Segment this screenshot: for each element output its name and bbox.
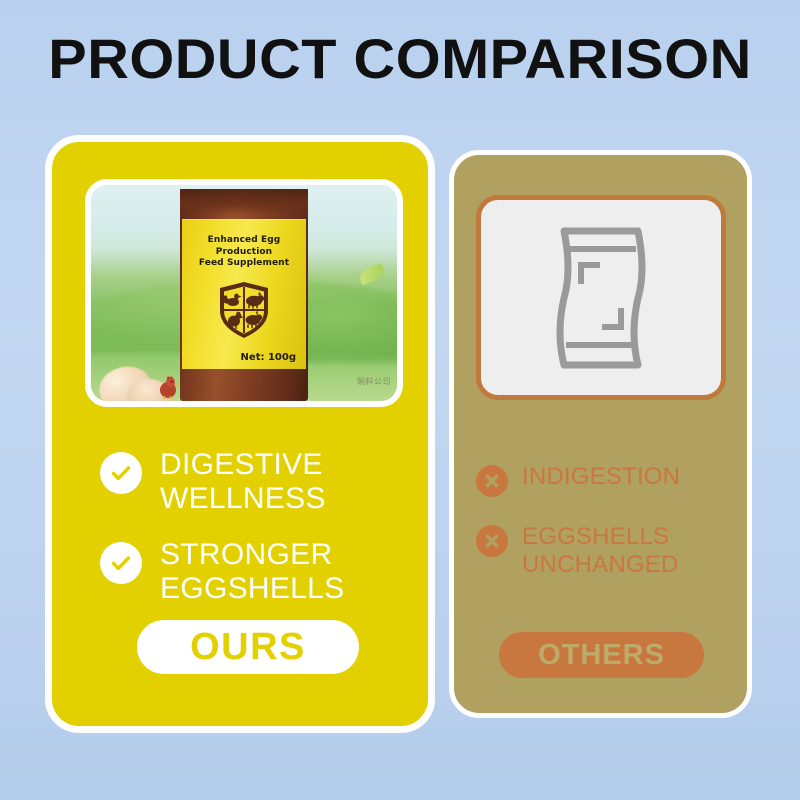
drawback-item: INDIGESTION xyxy=(476,463,744,497)
label-line-2: Production xyxy=(182,247,306,259)
comparison-graphic: PRODUCT COMPARISON xyxy=(0,0,800,800)
pouch-label: Enhanced Egg Production Feed Supplement xyxy=(182,219,306,369)
drawbacks-list: INDIGESTION EGGSHELLS UNCHANGED xyxy=(476,463,744,605)
drawback-item: EGGSHELLS UNCHANGED xyxy=(476,523,744,579)
drawback-label: EGGSHELLS UNCHANGED xyxy=(522,523,744,579)
net-weight-text: Net: 100g xyxy=(241,352,296,363)
others-badge: OTHERS xyxy=(499,632,704,678)
benefit-item: DIGESTIVE WELLNESS xyxy=(100,448,420,516)
pouch-label-title: Enhanced Egg Production Feed Supplement xyxy=(182,235,306,270)
pouch-top-seal xyxy=(180,189,308,215)
product-pouch: Enhanced Egg Production Feed Supplement xyxy=(180,189,308,401)
others-placeholder-panel xyxy=(476,195,726,400)
check-icon xyxy=(100,542,142,584)
benefit-label: DIGESTIVE WELLNESS xyxy=(160,448,420,516)
cross-icon xyxy=(476,525,508,557)
page-title: PRODUCT COMPARISON xyxy=(0,27,800,91)
benefit-item: STRONGER EGGSHELLS xyxy=(100,538,420,606)
check-icon xyxy=(100,452,142,494)
hen-icon xyxy=(157,373,179,399)
benefit-label: STRONGER EGGSHELLS xyxy=(160,538,420,606)
generic-pouch-icon xyxy=(542,223,660,373)
benefits-list: DIGESTIVE WELLNESS STRONGER EGGSHELLS xyxy=(100,448,420,628)
ours-card: Enhanced Egg Production Feed Supplement xyxy=(45,135,435,733)
cross-icon xyxy=(476,465,508,497)
livestock-shield-icon xyxy=(218,281,270,339)
ours-product-photo: Enhanced Egg Production Feed Supplement xyxy=(85,179,403,407)
others-card: INDIGESTION EGGSHELLS UNCHANGED OTHERS xyxy=(449,150,752,718)
photo-watermark: 飼料公司 xyxy=(357,376,391,387)
drawback-label: INDIGESTION xyxy=(522,463,680,491)
ours-badge: OURS xyxy=(137,620,359,674)
label-line-3: Feed Supplement xyxy=(182,258,306,270)
label-line-1: Enhanced Egg xyxy=(182,235,306,247)
